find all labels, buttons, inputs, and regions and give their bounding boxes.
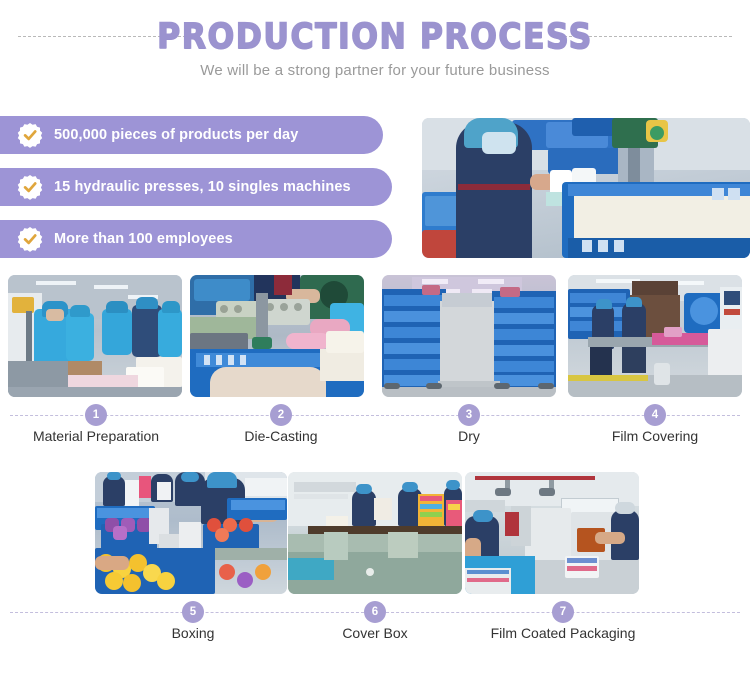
step-photo	[190, 275, 364, 397]
title-row: PRODUCTION PROCESS	[0, 14, 750, 60]
step-caption: Dry	[458, 428, 480, 444]
highlight-list: 500,000 pieces of products per day 15 hy…	[0, 116, 400, 256]
header: PRODUCTION PROCESS We will be a strong p…	[0, 0, 750, 100]
highlight-label: 500,000 pieces of products per day	[54, 127, 298, 143]
step-number-badge: 1	[85, 404, 107, 426]
step-photo	[465, 472, 639, 594]
step-photo	[8, 275, 182, 397]
step-photo	[568, 275, 742, 397]
step-photo	[382, 275, 556, 397]
step-caption: Cover Box	[342, 625, 407, 641]
step-number-badge: 2	[270, 404, 292, 426]
step-number-badge: 3	[458, 404, 480, 426]
step-strip: 5 Boxing 6 Cover Box 7 Film Coated Packa…	[0, 597, 750, 645]
hero-photo	[422, 118, 750, 258]
production-process-infographic: PRODUCTION PROCESS We will be a strong p…	[0, 0, 750, 687]
step-photo	[288, 472, 462, 594]
step-photo	[95, 472, 287, 594]
highlight-item: 15 hydraulic presses, 10 singles machine…	[0, 168, 392, 206]
step-number-badge: 6	[364, 601, 386, 623]
step-caption: Film Coated Packaging	[491, 625, 636, 641]
step-number-badge: 7	[552, 601, 574, 623]
check-seal-icon	[17, 174, 43, 200]
highlight-label: 15 hydraulic presses, 10 singles machine…	[54, 179, 351, 195]
step-strip: 1 Material Preparation 2 Die-Casting 3 D…	[0, 400, 750, 448]
step-caption: Die-Casting	[244, 428, 317, 444]
check-seal-icon	[17, 122, 43, 148]
highlight-item: More than 100 employees	[0, 220, 392, 258]
step-caption: Film Covering	[612, 428, 698, 444]
page-subtitle: We will be a strong partner for your fut…	[0, 62, 750, 79]
check-seal-icon	[17, 226, 43, 252]
highlight-label: More than 100 employees	[54, 231, 233, 247]
step-number-badge: 5	[182, 601, 204, 623]
page-title: PRODUCTION PROCESS	[0, 14, 750, 60]
step-caption: Boxing	[172, 625, 215, 641]
highlight-item: 500,000 pieces of products per day	[0, 116, 383, 154]
step-connector-line	[10, 415, 740, 416]
step-caption: Material Preparation	[33, 428, 159, 444]
step-number-badge: 4	[644, 404, 666, 426]
